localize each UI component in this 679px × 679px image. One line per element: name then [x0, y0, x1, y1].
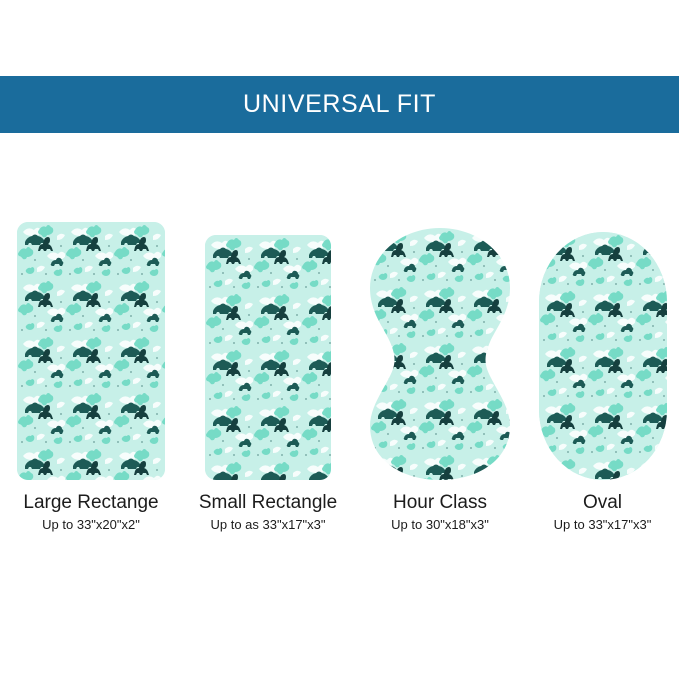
product-name: Hour Class: [354, 492, 526, 514]
product-label-hour-class: Hour Class Up to 30"x18"x3": [354, 492, 526, 533]
fabric-swatch-oval: [539, 232, 667, 480]
product-dimensions: Up to 33"x17"x3": [526, 516, 679, 533]
product-name: Large Rectange: [0, 492, 182, 514]
fabric-swatch-small-rectangle: [205, 235, 331, 480]
product-dimensions: Up to 33"x20"x2": [0, 516, 182, 533]
dino-pattern-icon: [539, 232, 667, 480]
dino-pattern-icon: [205, 235, 331, 480]
dino-pattern-icon: [370, 228, 510, 480]
fabric-swatch-hour-class: [370, 228, 510, 480]
banner-title: UNIVERSAL FIT: [243, 92, 436, 117]
product-name: Small Rectangle: [182, 492, 354, 514]
dino-pattern-icon: [17, 222, 165, 480]
product-shape-row: Large Rectange Up to 33"x20"x2" Small Re…: [0, 200, 679, 545]
product-name: Oval: [526, 492, 679, 514]
product-label-small-rectangle: Small Rectangle Up to as 33"x17"x3": [182, 492, 354, 533]
product-dimensions: Up to 30"x18"x3": [354, 516, 526, 533]
product-dimensions: Up to as 33"x17"x3": [182, 516, 354, 533]
fabric-swatch-large-rectangle: [17, 222, 165, 480]
product-label-large-rectangle: Large Rectange Up to 33"x20"x2": [0, 492, 182, 533]
universal-fit-banner: UNIVERSAL FIT: [0, 76, 679, 133]
product-label-oval: Oval Up to 33"x17"x3": [526, 492, 679, 533]
